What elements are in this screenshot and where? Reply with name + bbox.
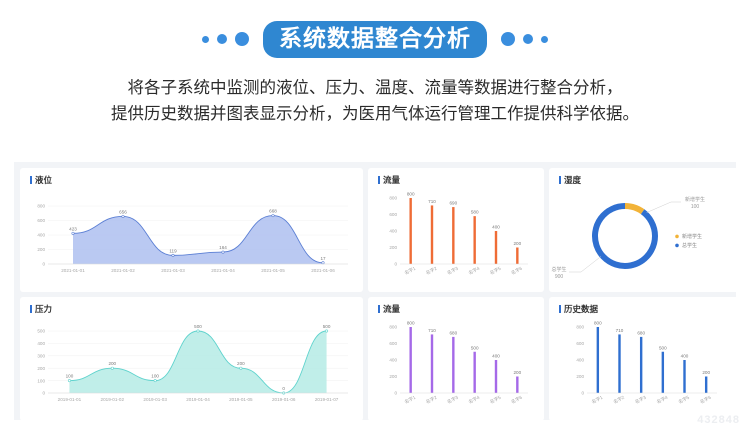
svg-text:600: 600 [37, 218, 45, 223]
svg-text:0: 0 [394, 391, 397, 396]
svg-text:100: 100 [691, 204, 700, 210]
card-humidity[interactable]: 湿度 新增学生100总学生900新增学生总学生 [549, 168, 740, 292]
svg-text:400: 400 [492, 225, 500, 230]
watermark: 432848 [697, 414, 740, 426]
chart-pressure: 010020030040050010020010050020005002019-… [20, 297, 363, 421]
svg-text:名字4: 名字4 [467, 265, 481, 277]
decorative-dot-large-left [235, 32, 249, 46]
decorative-dot-large-right [501, 32, 515, 46]
svg-text:400: 400 [389, 358, 397, 363]
svg-text:400: 400 [492, 354, 500, 359]
decorative-dot-small-right [541, 36, 548, 43]
decorative-dot-small-left [202, 36, 209, 43]
svg-text:500: 500 [194, 324, 202, 329]
svg-text:名字5: 名字5 [677, 394, 691, 406]
svg-text:800: 800 [389, 325, 397, 330]
page-title: 系统数据整合分析 [263, 21, 487, 58]
card-liquid-level[interactable]: 液位 0200400600800423656119164668172021-01… [20, 168, 363, 292]
card-history[interactable]: 历史数据 0200400600800800名字1710名字2680名字3500名… [549, 297, 740, 421]
svg-text:200: 200 [237, 361, 245, 366]
svg-text:800: 800 [389, 196, 397, 201]
svg-text:名字3: 名字3 [446, 394, 460, 406]
svg-text:900: 900 [555, 274, 564, 280]
svg-text:0: 0 [581, 391, 584, 396]
card-flow-top[interactable]: 流量 0200400600800800名字1710名字2690名字3580名字4… [368, 168, 544, 292]
svg-text:0: 0 [282, 386, 285, 391]
svg-text:680: 680 [637, 330, 645, 335]
svg-text:名字6: 名字6 [510, 394, 524, 406]
svg-text:600: 600 [389, 341, 397, 346]
svg-text:2021-01-06: 2021-01-06 [311, 268, 335, 273]
svg-text:200: 200 [513, 370, 521, 375]
decorative-dot-medium-right [523, 34, 533, 44]
svg-text:17: 17 [320, 256, 326, 261]
svg-text:668: 668 [269, 209, 277, 214]
svg-text:200: 200 [513, 241, 521, 246]
svg-text:400: 400 [576, 358, 584, 363]
svg-text:总学生: 总学生 [682, 242, 697, 249]
svg-text:2019-01-01: 2019-01-01 [58, 397, 82, 402]
svg-text:名字4: 名字4 [467, 394, 481, 406]
svg-text:2019-01-05: 2019-01-05 [229, 397, 253, 402]
svg-text:名字2: 名字2 [424, 394, 438, 406]
svg-text:2019-01-03: 2019-01-03 [143, 397, 167, 402]
svg-text:0: 0 [42, 262, 45, 267]
svg-text:800: 800 [37, 204, 45, 209]
svg-text:400: 400 [37, 233, 45, 238]
svg-text:300: 300 [37, 354, 45, 359]
svg-text:600: 600 [389, 212, 397, 217]
svg-text:680: 680 [449, 330, 457, 335]
svg-text:200: 200 [389, 245, 397, 250]
svg-text:119: 119 [169, 248, 177, 253]
svg-text:100: 100 [37, 378, 45, 383]
svg-text:名字3: 名字3 [446, 265, 460, 277]
page-header: 系统数据整合分析 [0, 0, 750, 70]
svg-text:690: 690 [449, 201, 457, 206]
svg-text:656: 656 [119, 209, 127, 214]
svg-text:2021-01-03: 2021-01-03 [161, 268, 185, 273]
svg-text:200: 200 [37, 366, 45, 371]
decorative-dot-medium-left [217, 34, 227, 44]
svg-text:500: 500 [471, 345, 479, 350]
svg-text:0: 0 [42, 391, 45, 396]
chart-flow-top: 0200400600800800名字1710名字2690名字3580名字4400… [368, 168, 544, 292]
chart-humidity: 新增学生100总学生900新增学生总学生 [549, 168, 740, 292]
svg-text:580: 580 [471, 210, 479, 215]
svg-text:新增学生: 新增学生 [685, 196, 705, 203]
svg-text:名字5: 名字5 [488, 265, 502, 277]
svg-text:200: 200 [576, 374, 584, 379]
svg-text:800: 800 [407, 192, 415, 197]
svg-text:2021-01-02: 2021-01-02 [111, 268, 135, 273]
svg-text:500: 500 [37, 329, 45, 334]
svg-text:名字5: 名字5 [488, 394, 502, 406]
svg-text:800: 800 [576, 325, 584, 330]
svg-text:2021-01-01: 2021-01-01 [61, 268, 85, 273]
svg-text:2021-01-05: 2021-01-05 [261, 268, 285, 273]
svg-text:名字6: 名字6 [699, 394, 713, 406]
chart-history: 0200400600800800名字1710名字2680名字3500名字4400… [549, 297, 740, 421]
svg-text:800: 800 [407, 321, 415, 326]
svg-text:2019-01-06: 2019-01-06 [272, 397, 296, 402]
card-flow-bottom[interactable]: 流量 0200400600800800名字1710名字2680名字3500名字4… [368, 297, 544, 421]
svg-text:名字1: 名字1 [403, 265, 417, 277]
svg-text:名字3: 名字3 [634, 394, 648, 406]
svg-text:710: 710 [428, 199, 436, 204]
svg-text:2019-01-04: 2019-01-04 [186, 397, 210, 402]
svg-text:710: 710 [428, 328, 436, 333]
svg-text:400: 400 [37, 341, 45, 346]
svg-text:400: 400 [389, 229, 397, 234]
svg-text:710: 710 [616, 328, 624, 333]
svg-text:名字4: 名字4 [655, 394, 669, 406]
svg-text:0: 0 [394, 262, 397, 267]
svg-text:2019-01-02: 2019-01-02 [101, 397, 125, 402]
svg-text:100: 100 [66, 374, 74, 379]
svg-text:600: 600 [576, 341, 584, 346]
dashboard-panel: 液位 0200400600800423656119164668172021-01… [14, 162, 736, 420]
svg-text:名字2: 名字2 [424, 265, 438, 277]
svg-text:200: 200 [702, 370, 710, 375]
svg-text:2021-01-04: 2021-01-04 [211, 268, 235, 273]
svg-text:名字6: 名字6 [510, 265, 524, 277]
svg-text:2019-01-07: 2019-01-07 [315, 397, 339, 402]
page-description: 将各子系统中监测的液位、压力、温度、流量等数据进行整合分析， 提供历史数据并图表… [0, 70, 750, 127]
svg-text:新增学生: 新增学生 [682, 233, 702, 240]
svg-text:名字1: 名字1 [590, 394, 604, 406]
chart-liquid-level: 0200400600800423656119164668172021-01-01… [20, 168, 363, 292]
chart-flow-bottom: 0200400600800800名字1710名字2680名字3500名字4400… [368, 297, 544, 421]
svg-text:400: 400 [681, 354, 689, 359]
svg-text:500: 500 [323, 324, 331, 329]
svg-text:423: 423 [69, 226, 77, 231]
svg-text:200: 200 [389, 374, 397, 379]
description-line-1: 将各子系统中监测的液位、压力、温度、流量等数据进行整合分析， [30, 76, 720, 102]
card-pressure[interactable]: 压力 0100200300400500100200100500200050020… [20, 297, 363, 421]
svg-text:200: 200 [37, 247, 45, 252]
svg-text:800: 800 [594, 321, 602, 326]
svg-text:名字1: 名字1 [403, 394, 417, 406]
svg-text:500: 500 [659, 345, 667, 350]
svg-text:总学生: 总学生 [551, 266, 566, 273]
svg-text:名字2: 名字2 [612, 394, 626, 406]
svg-text:164: 164 [219, 245, 227, 250]
description-line-2: 提供历史数据并图表显示分析，为医用气体运行管理工作提供科学依据。 [30, 102, 720, 128]
svg-text:100: 100 [151, 374, 159, 379]
svg-text:200: 200 [108, 361, 116, 366]
